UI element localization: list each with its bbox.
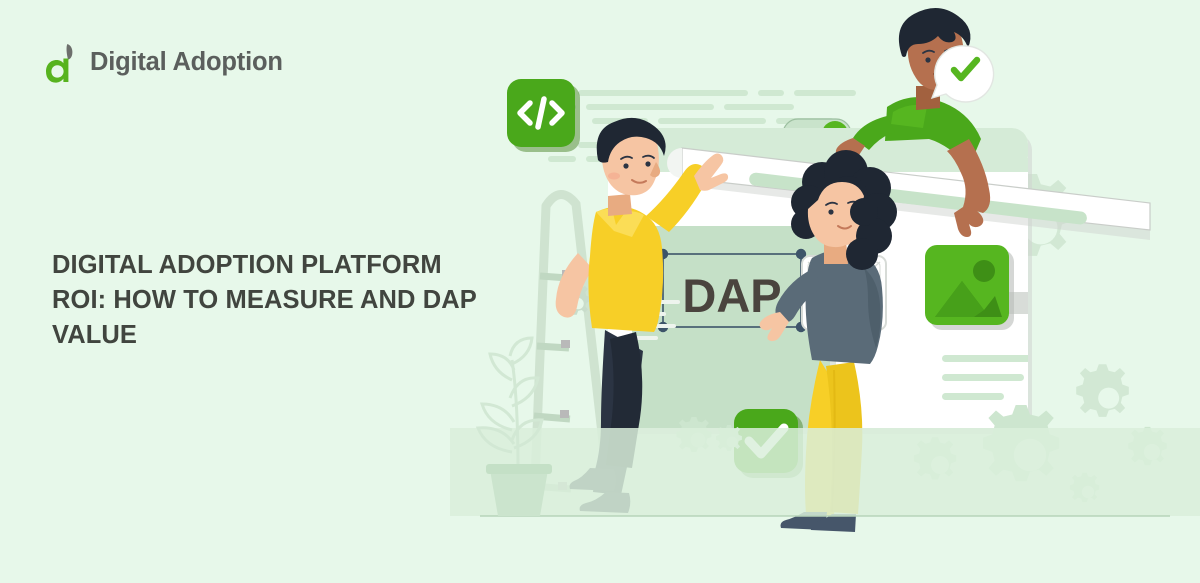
hero-illustration: DAP [450,0,1200,583]
artboard-label: DAP [682,269,781,322]
floor [450,428,1200,516]
illustration-canvas: DAP [450,0,1200,583]
gear-icon [1076,364,1129,417]
hero-banner: Digital Adoption DIGITAL ADOPTION PLATFO… [0,0,1200,583]
code-badge[interactable] [507,79,580,152]
brand-name: Digital Adoption [90,50,283,76]
letter-a-leaf-logo-icon [46,42,80,84]
page-title: DIGITAL ADOPTION PLATFORM ROI: HOW TO ME… [52,248,482,354]
brand-logo[interactable]: Digital Adoption [46,42,283,84]
image-badge[interactable] [925,245,1014,330]
